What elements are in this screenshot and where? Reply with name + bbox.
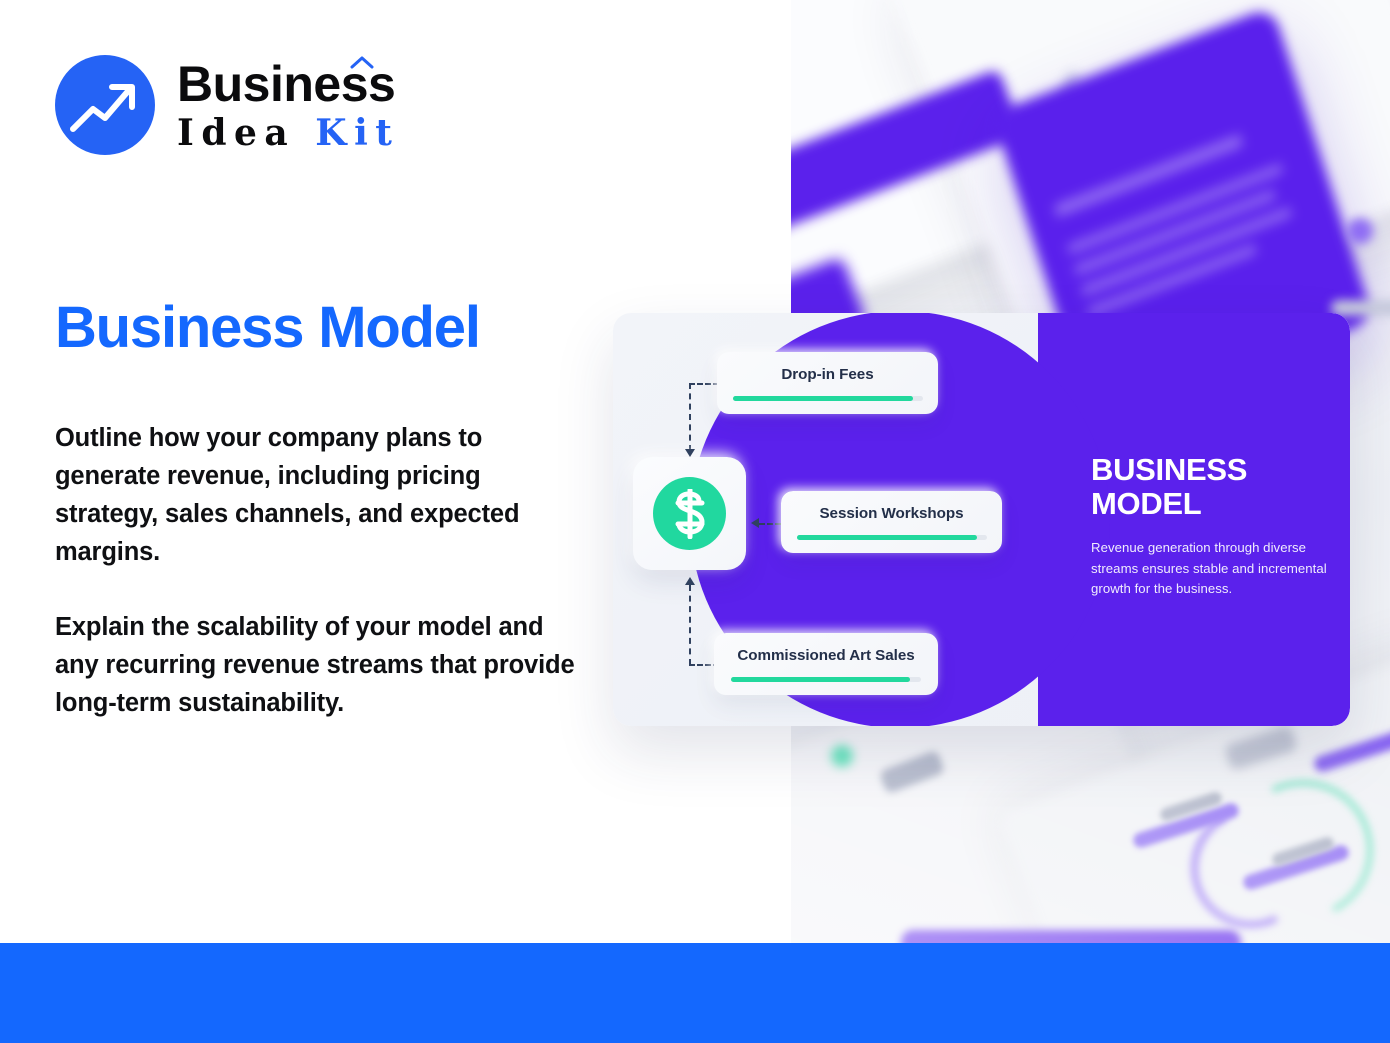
panel-description: Revenue generation through diverse strea…: [1091, 538, 1341, 599]
bg-pill: [1331, 300, 1390, 316]
revenue-stream-label: Commissioned Art Sales: [737, 647, 914, 664]
revenue-stream-progress-track: [731, 677, 921, 682]
bg-pill: [1271, 835, 1336, 867]
panel-title-line1: BUSINESS: [1091, 453, 1341, 487]
revenue-stream-progress-track: [733, 396, 923, 401]
bg-dot: [1347, 218, 1373, 244]
page-title: Business Model: [55, 298, 480, 359]
bg-dot: [831, 745, 853, 767]
revenue-model-diagram-card: BUSINESS MODEL Revenue generation throug…: [613, 313, 1350, 726]
connector-top-vertical: [689, 383, 691, 451]
bg-pill: [1241, 843, 1350, 891]
revenue-stream-card[interactable]: Session Workshops: [781, 491, 1002, 553]
trending-up-arrow-icon: [55, 55, 155, 155]
brand-wordmark: Business Idea Kit: [177, 59, 399, 151]
slide-canvas: Business Idea Kit Business Model Outline…: [0, 0, 1390, 1043]
brand-name-line1: Business: [177, 59, 399, 109]
revenue-stream-progress-fill: [731, 677, 910, 682]
panel-content: BUSINESS MODEL Revenue generation throug…: [1091, 453, 1341, 599]
brand-logo: Business Idea Kit: [55, 55, 399, 155]
revenue-stream-progress-track: [797, 535, 987, 540]
revenue-stream-label: Session Workshops: [819, 505, 963, 522]
revenue-stream-card[interactable]: Commissioned Art Sales: [714, 633, 938, 695]
connector-middle-arrowhead: [751, 518, 759, 528]
connector-bottom-vertical: [689, 585, 691, 665]
bg-pill: [1224, 725, 1299, 771]
bg-purple-bar: [791, 69, 1024, 244]
body-paragraph-1: Outline how your company plans to genera…: [55, 420, 585, 572]
bg-slide-card: [791, 0, 1146, 336]
bg-arc-shape: [1041, 10, 1230, 199]
revenue-center-node[interactable]: [633, 457, 746, 570]
footer-band: [0, 943, 1390, 1043]
panel-title-line2: MODEL: [1091, 487, 1341, 521]
connector-bottom-arrowhead: [685, 577, 695, 585]
bg-donut-chart: [1215, 762, 1390, 938]
revenue-stream-progress-fill: [733, 396, 914, 401]
connector-top-horizontal: [689, 383, 719, 385]
bg-donut-chart: [1175, 792, 1326, 943]
connector-top-arrowhead: [685, 449, 695, 457]
bg-purple-bar: [901, 930, 1241, 943]
revenue-stream-progress-fill: [797, 535, 978, 540]
bg-pill: [1131, 801, 1240, 849]
body-paragraph-2: Explain the scalability of your model an…: [55, 609, 585, 723]
dollar-sign-icon: [653, 477, 726, 550]
brand-kit-accent: Kit: [315, 112, 399, 154]
revenue-stream-label: Drop-in Fees: [781, 366, 873, 383]
bg-slide-card: [885, 0, 1390, 351]
bg-pill: [1159, 790, 1224, 822]
brand-name-line2: Idea Kit: [177, 115, 399, 151]
panel-title: BUSINESS MODEL: [1091, 453, 1341, 521]
revenue-stream-card[interactable]: Drop-in Fees: [717, 352, 938, 414]
bg-pill: [879, 750, 945, 795]
